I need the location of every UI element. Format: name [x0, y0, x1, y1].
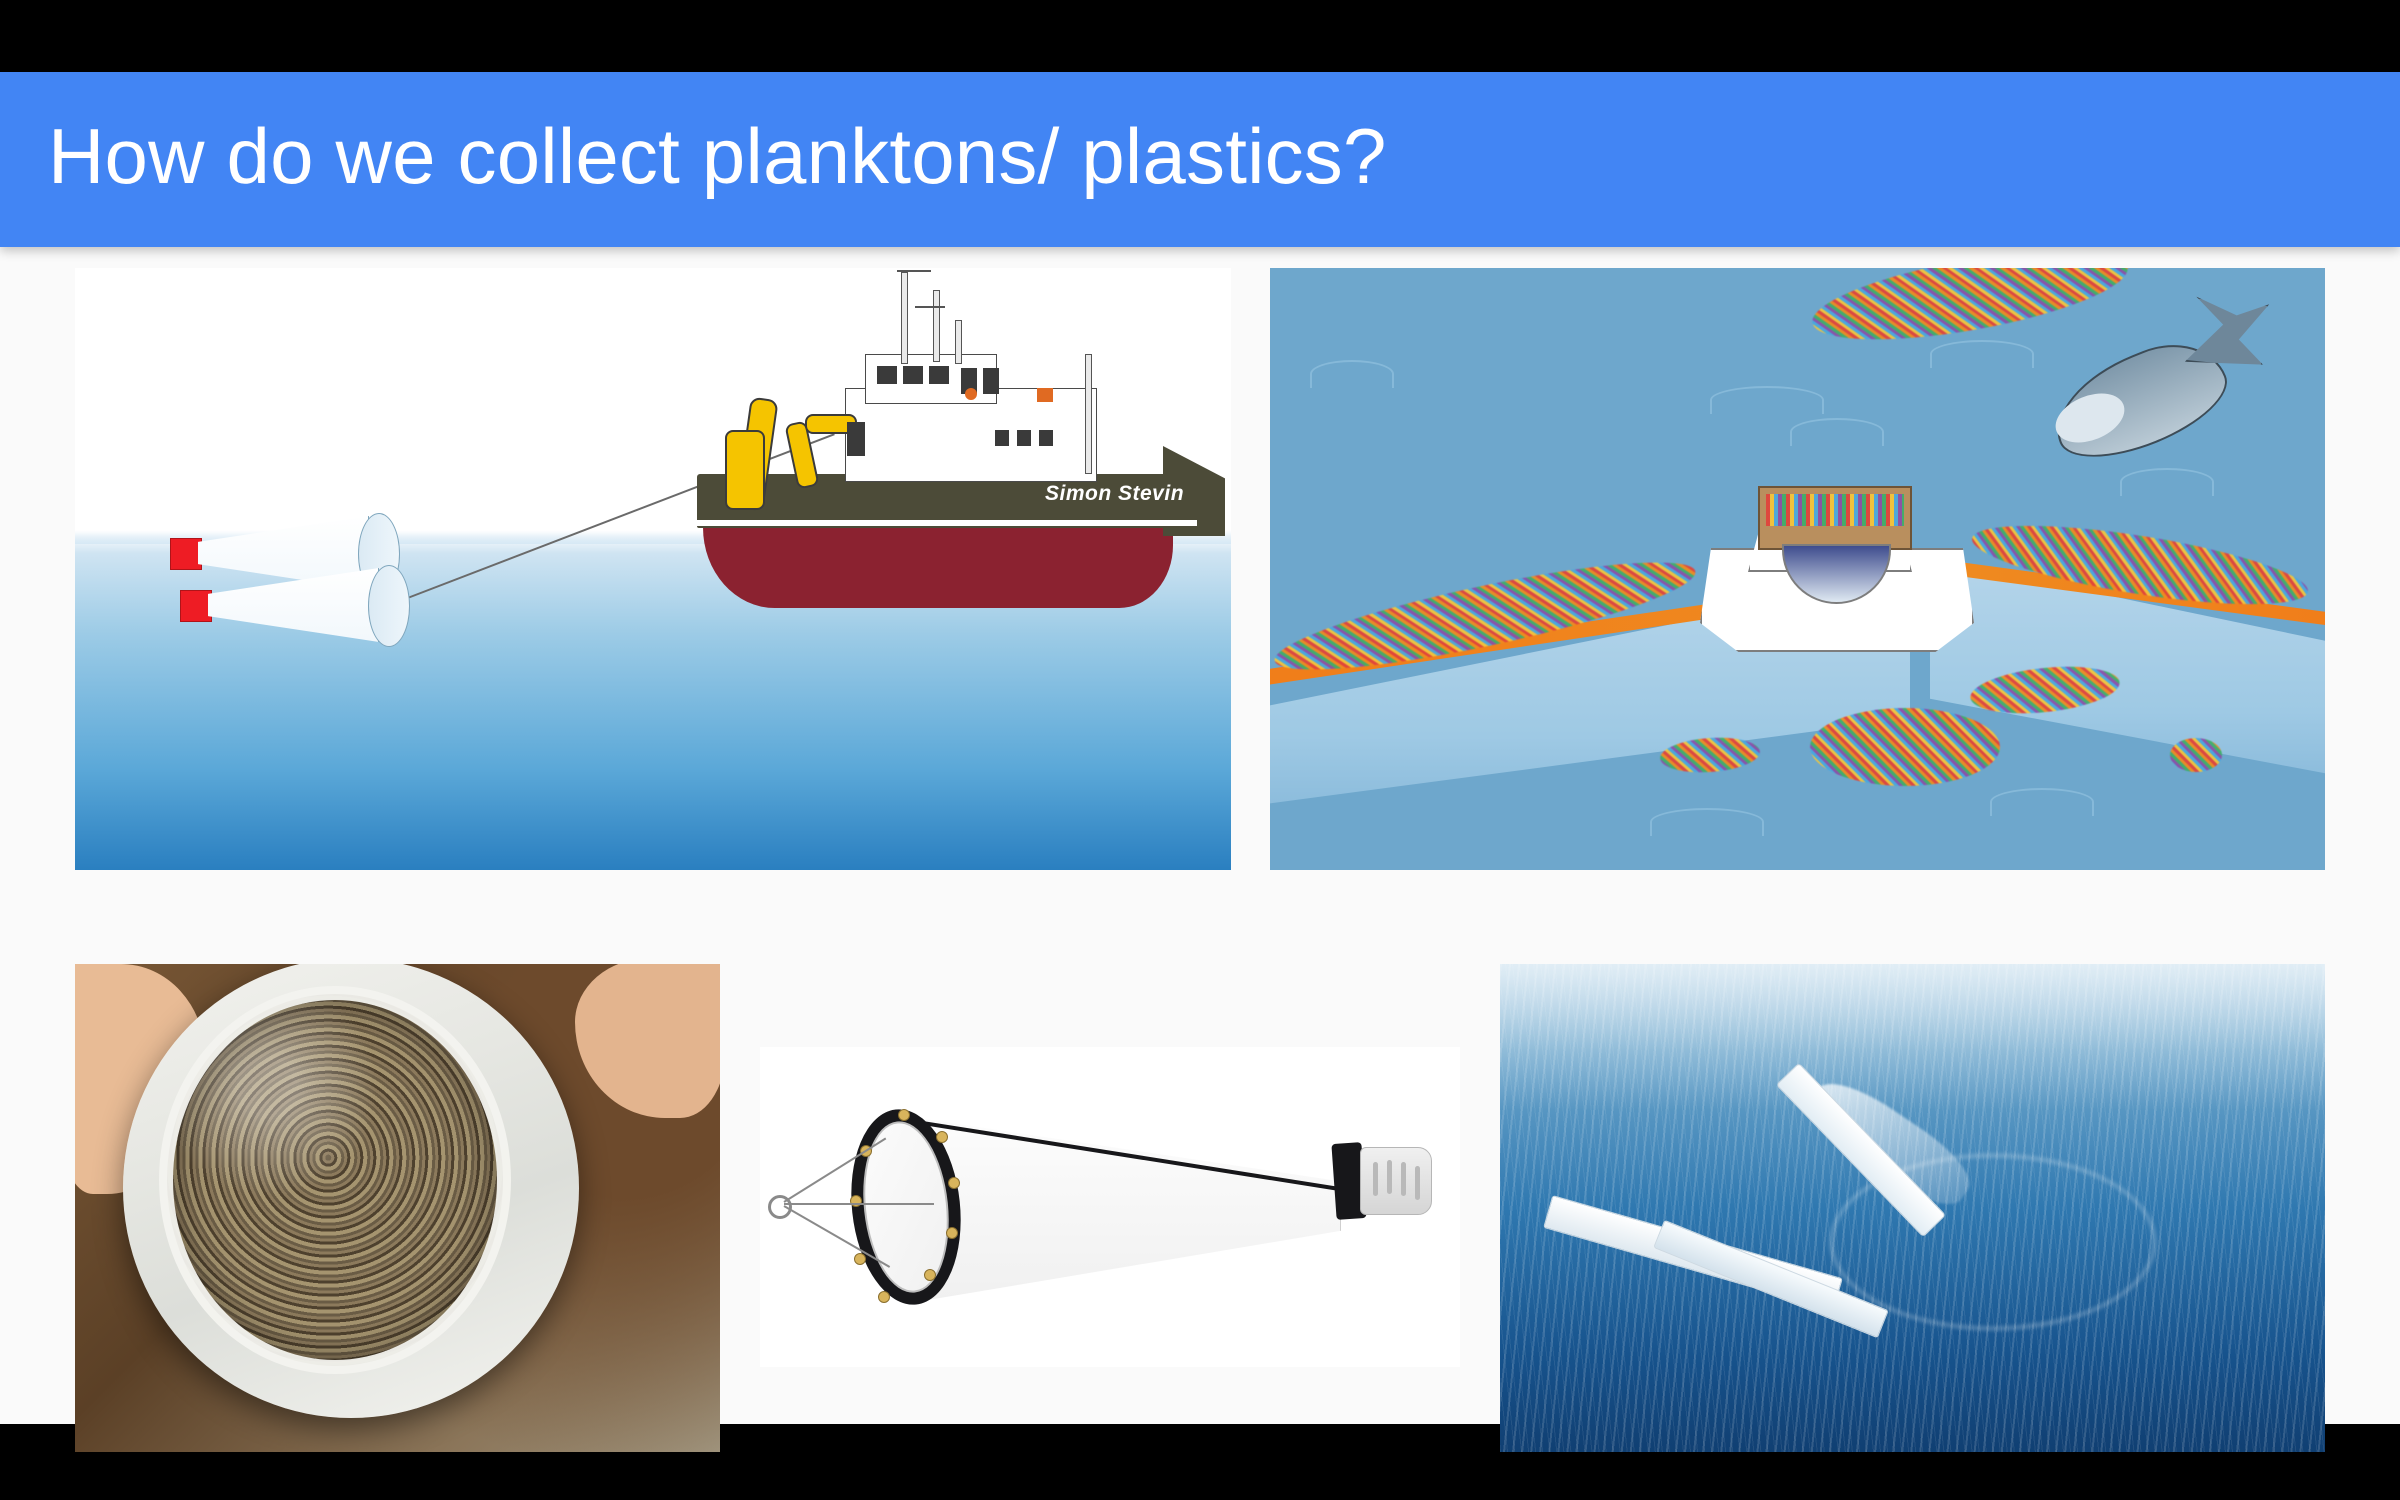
- hoop-eyelet: [946, 1227, 958, 1239]
- life-ring: [965, 388, 977, 400]
- panel-sample-bucket[interactable]: [75, 964, 720, 1452]
- cod-end-slot: [1373, 1162, 1378, 1196]
- bucket-rim: [159, 986, 511, 1374]
- hoop-eyelet: [924, 1269, 936, 1281]
- bridle-line: [784, 1203, 934, 1205]
- net-mouth-ring: [368, 565, 410, 647]
- ship-mast: [901, 272, 908, 364]
- debris-patch: [2170, 738, 2222, 772]
- whale: [2040, 294, 2260, 494]
- hoop-eyelet: [850, 1195, 862, 1207]
- ship-name-label: Simon Stevin: [1045, 482, 1184, 506]
- panel-manta-trawl[interactable]: [1500, 964, 2325, 1452]
- collection-vessel: [1700, 486, 1970, 654]
- whale-tail-fluke: [2185, 296, 2269, 370]
- collected-plastic: [1766, 494, 1904, 526]
- wave-mark: [1930, 340, 2034, 368]
- orange-container: [1037, 388, 1053, 402]
- ship-aft-gantry: [1085, 354, 1092, 474]
- wave-mark: [1990, 788, 2094, 816]
- mast-crossbar: [897, 270, 931, 272]
- title-banner: How do we collect planktons/ plastics?: [0, 72, 2400, 247]
- red-cod-end: [180, 590, 212, 622]
- net-cone-mesh: [910, 1113, 1341, 1303]
- slide-screen: How do we collect planktons/ plastics?: [0, 0, 2400, 1500]
- sun-glare: [1500, 964, 2325, 1110]
- bridge-window: [877, 366, 897, 384]
- hoop-eyelet: [878, 1291, 890, 1303]
- debris-patch: [1810, 708, 2000, 786]
- deck-window: [983, 368, 999, 394]
- collection-bin: [1758, 486, 1912, 550]
- wave-mark: [1710, 386, 1824, 414]
- panel-research-vessel[interactable]: Simon Stevin: [75, 268, 1231, 870]
- hoop-eyelet: [936, 1131, 948, 1143]
- deck-window: [1017, 430, 1031, 446]
- panel-ocean-cleanup[interactable]: [1270, 268, 2325, 870]
- hoop-eyelet: [898, 1109, 910, 1121]
- cod-end-slot: [1415, 1166, 1420, 1200]
- wave-mark: [1790, 418, 1884, 446]
- letterbox-bar-top: [0, 0, 2400, 72]
- ship-waterline-stripe: [697, 520, 1197, 526]
- deck-window: [995, 430, 1009, 446]
- deck-equipment: [847, 422, 865, 456]
- ship-antenna: [955, 320, 962, 364]
- page-title: How do we collect planktons/ plastics?: [48, 96, 2248, 216]
- ship-mast: [933, 290, 940, 362]
- mast-crossbar: [915, 306, 945, 308]
- deck-crane-base: [725, 430, 765, 510]
- cod-end-slot: [1401, 1162, 1406, 1196]
- slide-canvas: How do we collect planktons/ plastics?: [0, 72, 2400, 1424]
- deck-window: [1039, 430, 1053, 446]
- wave-mark: [1310, 360, 1394, 388]
- bridge-window: [903, 366, 923, 384]
- bridge-window: [929, 366, 949, 384]
- cod-end-collector: [1360, 1147, 1432, 1215]
- hoop-eyelet: [948, 1177, 960, 1189]
- wave-mark: [1650, 808, 1764, 836]
- panel-plankton-net[interactable]: [760, 1047, 1460, 1367]
- hoop-eyelet: [854, 1253, 866, 1265]
- cod-end-slot: [1387, 1160, 1392, 1194]
- ship-hull-below-waterline: [703, 522, 1173, 608]
- research-vessel: Simon Stevin: [665, 326, 1225, 656]
- red-cod-end: [170, 538, 202, 570]
